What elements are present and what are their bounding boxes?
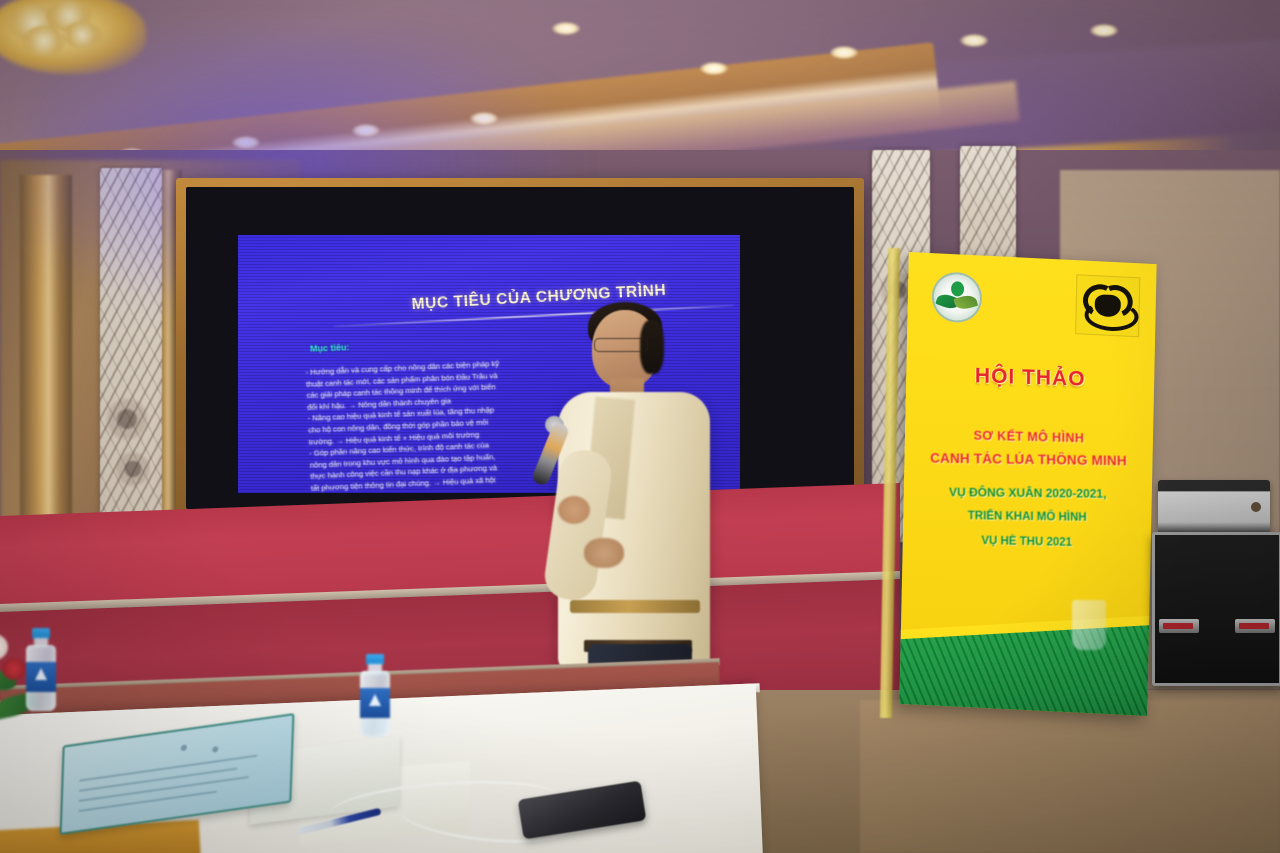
flower-petal (0, 634, 8, 660)
downlight-icon (1090, 24, 1118, 37)
led-screen-bezel: MỤC TIÊU CỦA CHƯƠNG TRÌNH Mục tiêu: - Hư… (186, 187, 854, 509)
banner-rice-field-graphic (899, 624, 1156, 716)
banner-subtitle-line: CANH TÁC LÚA THÔNG MINH (908, 450, 1148, 468)
folder-punch-hole (181, 744, 187, 751)
banner-title: HỘI THẢO (906, 362, 1154, 394)
flower-red (2, 658, 26, 680)
slide-section-heading: Mục tiêu: (310, 342, 350, 354)
bottle-label (360, 688, 390, 718)
downlight-icon (700, 62, 728, 75)
speaker-hand-lower (584, 538, 624, 568)
marble-medallion (104, 396, 150, 442)
floor-highlight (860, 700, 1280, 853)
buffalo-head-logo-icon (1075, 274, 1140, 337)
folder-text-line (78, 791, 217, 813)
logo-seed-shape (951, 281, 964, 297)
banner-content: HỘI THẢO SƠ KẾT MÔ HÌNH CANH TÁC LÚA THÔ… (899, 252, 1156, 716)
audio-device (1158, 480, 1270, 534)
folder-punch-hole (212, 746, 218, 753)
marble-medallion (114, 450, 152, 488)
led-screen-frame: MỤC TIÊU CỦA CHƯƠNG TRÌNH Mục tiêu: - Hư… (176, 178, 864, 518)
event-standee-banner: HỘI THẢO SƠ KẾT MÔ HÌNH CANH TÁC LÚA THÔ… (899, 252, 1156, 716)
case-latch-icon (1159, 619, 1199, 633)
eyeglasses-icon (594, 338, 648, 352)
agriculture-extension-logo-icon (931, 271, 982, 323)
case-latch-icon (1235, 619, 1275, 633)
banner-green-line: VỤ HÈ THU 2021 (905, 533, 1149, 550)
glass-object (1072, 600, 1106, 650)
banner-green-line: VỤ ĐÔNG XUÂN 2020-2021, (906, 485, 1150, 502)
speaker-jacket-belt (570, 600, 700, 613)
bottle-label (26, 662, 56, 692)
water-bottle[interactable] (24, 628, 58, 714)
downlight-icon (830, 46, 858, 59)
downlight-icon (960, 34, 988, 47)
speaker-hand (558, 496, 590, 524)
banner-subtitle-line: SƠ KẾT MÔ HÌNH (909, 427, 1149, 447)
conference-photo-scene: MỤC TIÊU CỦA CHƯƠNG TRÌNH Mục tiêu: - Hư… (0, 0, 1280, 853)
water-bottle[interactable] (358, 654, 392, 740)
equipment-flight-case (1152, 532, 1280, 686)
banner-green-line: TRIỂN KHAI MÔ HÌNH (905, 509, 1149, 524)
buffalo-glyph (1082, 284, 1133, 326)
device-knob-icon (1251, 502, 1261, 512)
